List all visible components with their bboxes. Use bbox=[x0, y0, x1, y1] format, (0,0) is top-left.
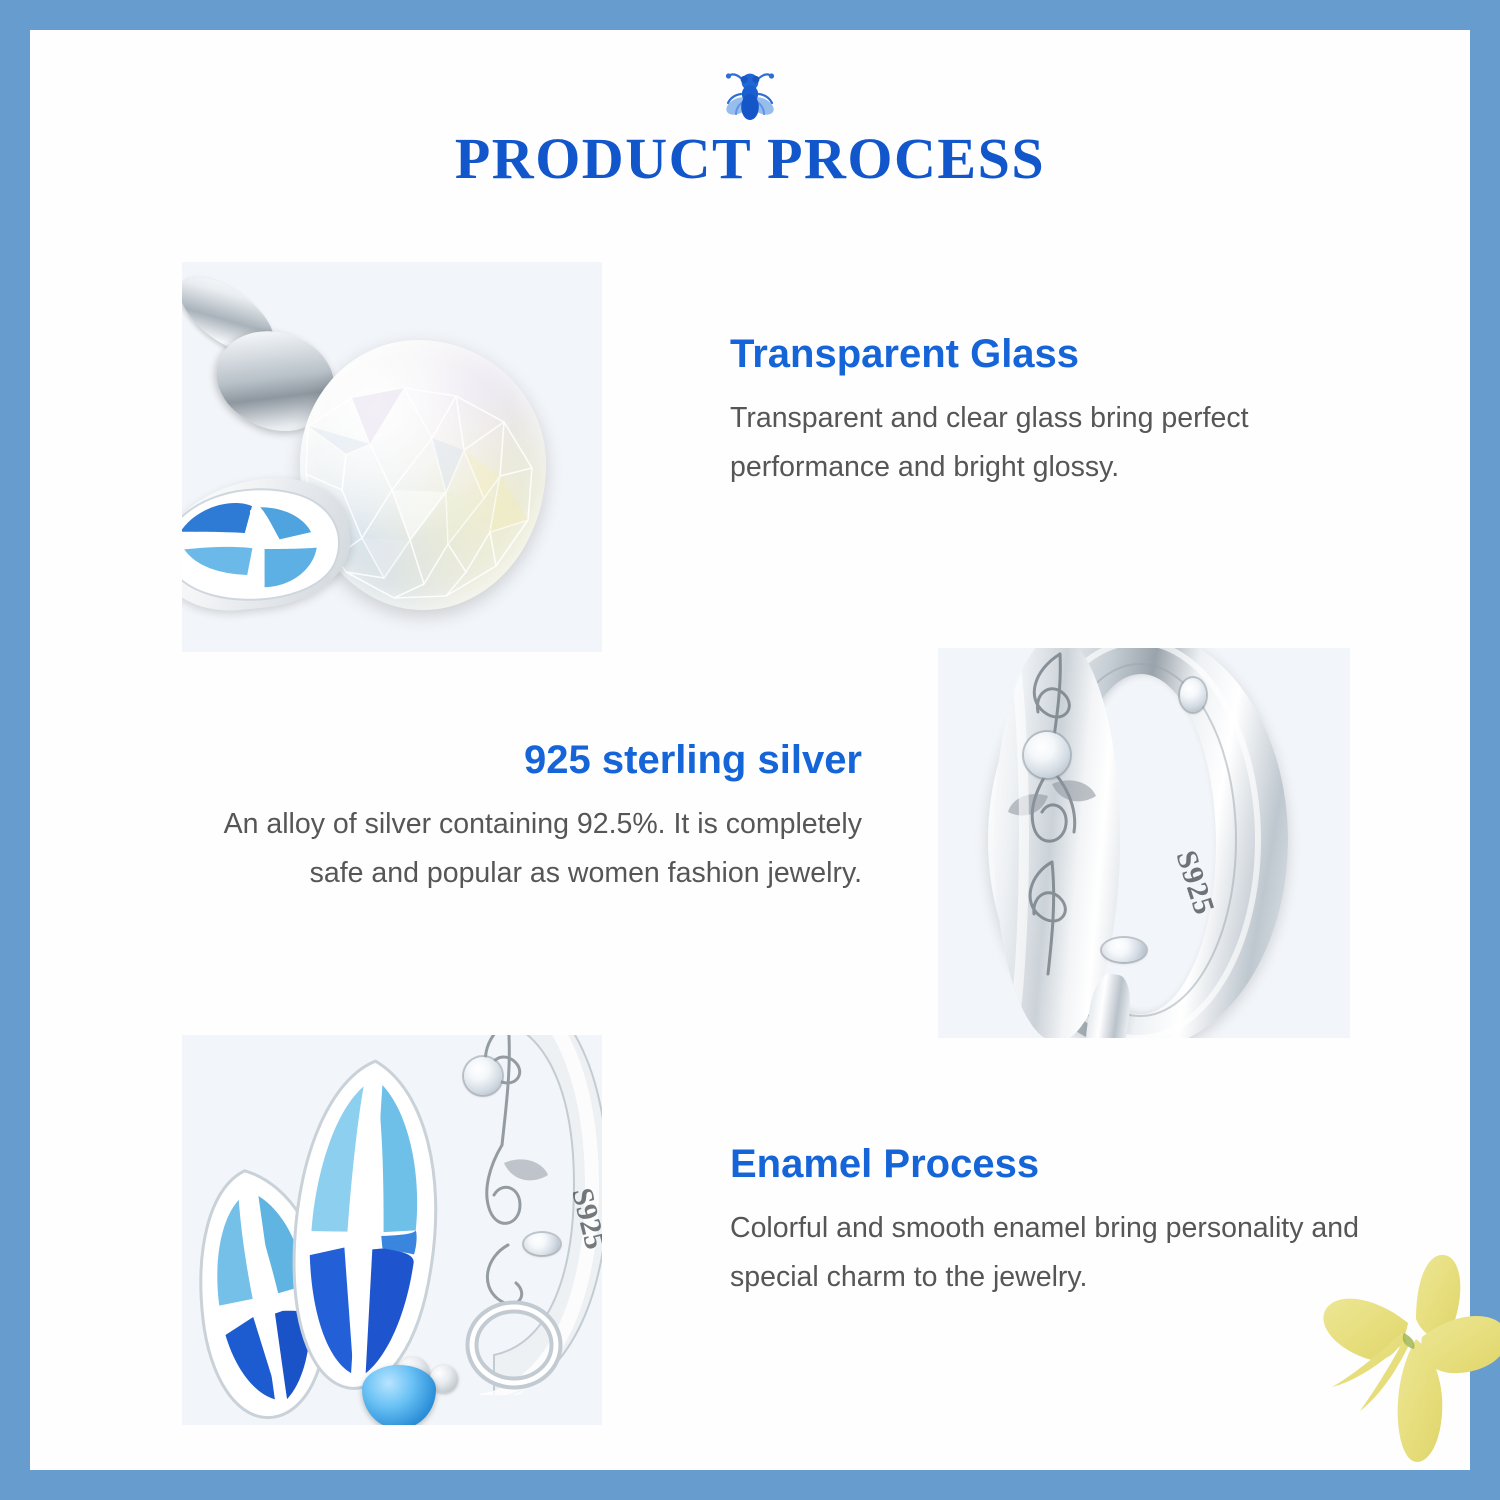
section-text-enamel-process: Enamel Process Colorful and smooth ename… bbox=[730, 1142, 1430, 1302]
section-body-transparent-glass: Transparent and clear glass bring perfec… bbox=[730, 394, 1390, 492]
section-title-transparent-glass: Transparent Glass bbox=[730, 332, 1390, 376]
infographic-page: PRODUCT PROCESS bbox=[0, 0, 1500, 1500]
fly-icon bbox=[721, 68, 779, 124]
page-title: PRODUCT PROCESS bbox=[30, 130, 1470, 188]
product-photo-enamel-process: S925 bbox=[182, 1035, 602, 1425]
content-card: PRODUCT PROCESS bbox=[30, 30, 1470, 1470]
blue-enamel-wing bbox=[182, 470, 356, 617]
photo-illustration-glass bbox=[182, 262, 602, 652]
product-photo-sterling-silver: S925 bbox=[938, 648, 1350, 1038]
silver-hoop-partial: S925 bbox=[422, 1035, 602, 1395]
section-body-sterling-silver: An alloy of silver containing 92.5%. It … bbox=[220, 800, 862, 898]
section-title-sterling-silver: 925 sterling silver bbox=[220, 738, 862, 782]
cz-stone bbox=[464, 1057, 502, 1095]
section-title-enamel-process: Enamel Process bbox=[730, 1142, 1430, 1186]
photo-illustration-silver: S925 bbox=[938, 648, 1350, 1038]
section-text-sterling-silver: 925 sterling silver An alloy of silver c… bbox=[220, 738, 862, 898]
section-text-transparent-glass: Transparent Glass Transparent and clear … bbox=[730, 332, 1390, 492]
photo-illustration-enamel: S925 bbox=[182, 1035, 602, 1425]
blue-gem bbox=[362, 1365, 436, 1425]
header: PRODUCT PROCESS bbox=[30, 68, 1470, 188]
cz-stone bbox=[1102, 938, 1146, 962]
cz-stone bbox=[524, 1233, 560, 1255]
product-photo-transparent-glass bbox=[182, 262, 602, 652]
cz-stone bbox=[1180, 678, 1206, 712]
cz-stone bbox=[1024, 732, 1070, 778]
section-body-enamel-process: Colorful and smooth enamel bring persona… bbox=[730, 1204, 1430, 1302]
